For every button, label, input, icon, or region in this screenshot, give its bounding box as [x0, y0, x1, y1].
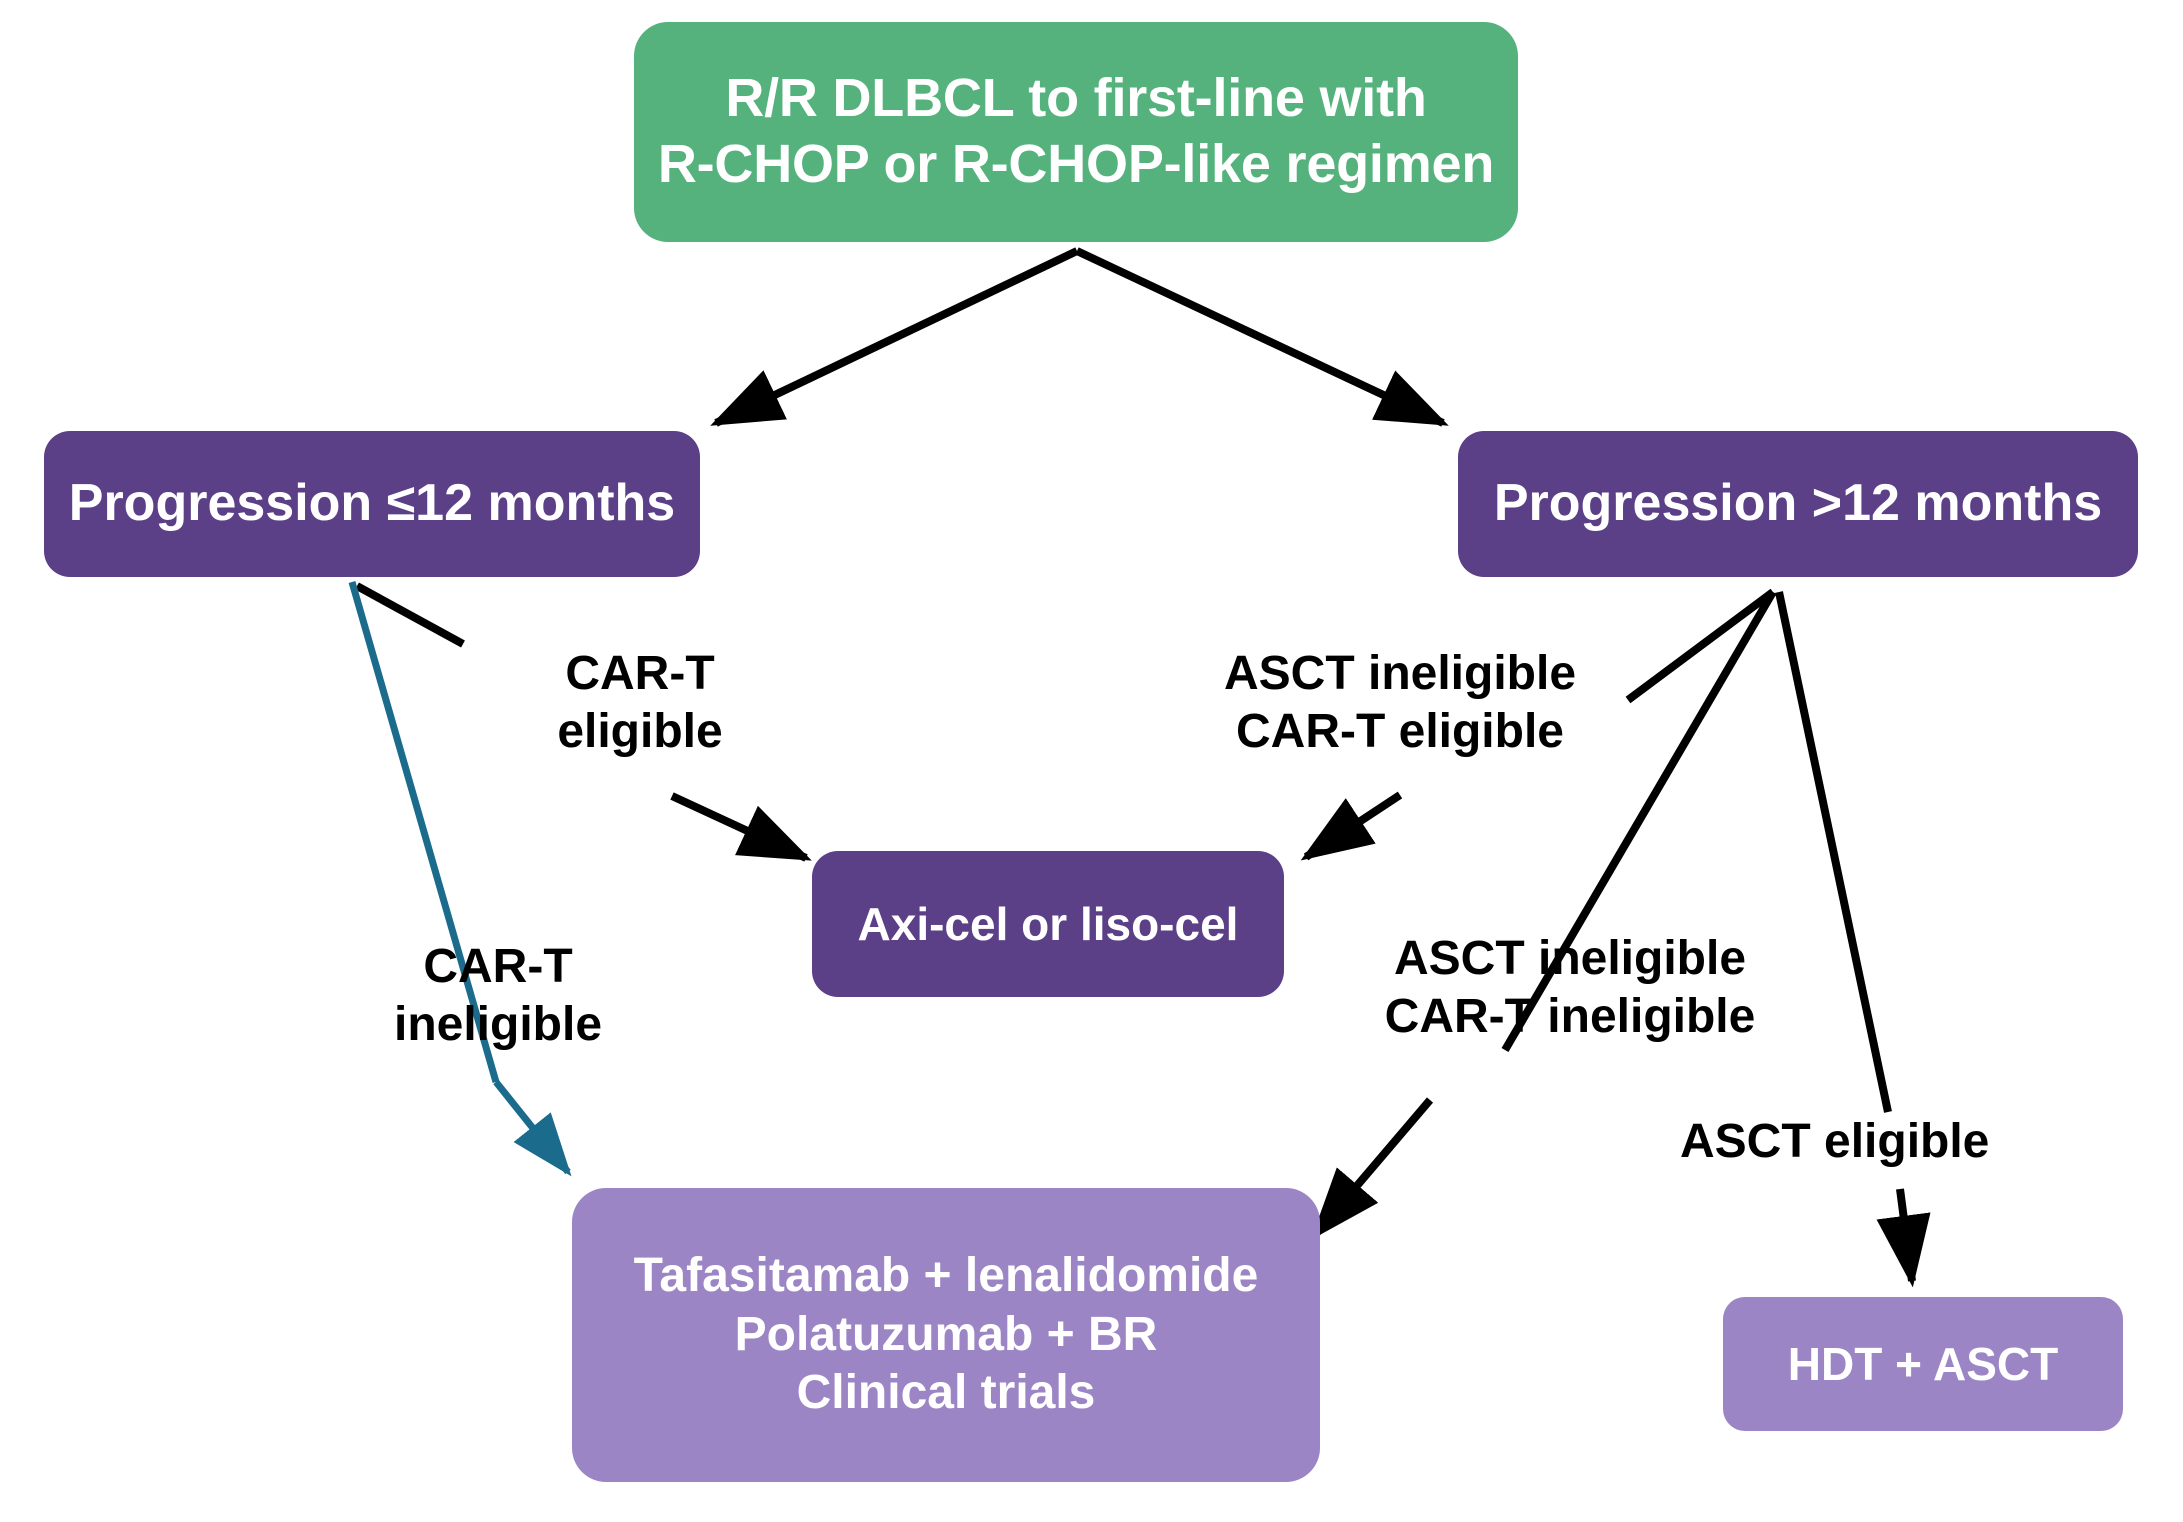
node-root-diagnosis[interactable]: R/R DLBCL to first-line with R-CHOP or R… [634, 22, 1518, 242]
edge-cart-eligible-to-cart-product [672, 796, 806, 858]
edge-asct-eligible-to-hdt-asct [1900, 1189, 1912, 1281]
edge-label-cart-ineligible-line-1: CAR-T [318, 938, 678, 996]
edge-cart-ineligible-to-salvage [496, 1082, 568, 1172]
edge-label-cart-eligible: CAR-T eligible [460, 645, 820, 760]
edge-asct-inel-cart-inel-to-salvage [1315, 1100, 1430, 1235]
edge-label-asct-ineligible-cart-ineligible-line-1: ASCT ineligible [1345, 930, 1795, 988]
edge-label-asct-ineligible-cart-ineligible-line-2: CAR-T ineligible [1345, 988, 1795, 1046]
edge-root-to-progression-gt-12 [1077, 251, 1443, 423]
node-progression-gt-12-label: Progression >12 months [1494, 472, 2102, 535]
node-root-text: R/R DLBCL to first-line with R-CHOP or R… [658, 66, 1494, 198]
edge-label-asct-ineligible-cart-eligible-line-1: ASCT ineligible [1185, 645, 1615, 703]
node-progression-le-12-months[interactable]: Progression ≤12 months [44, 431, 700, 577]
node-progression-gt-12-months[interactable]: Progression >12 months [1458, 431, 2138, 577]
node-axicel-or-lisocel-label: Axi-cel or liso-cel [858, 896, 1239, 952]
edge-label-asct-ineligible-cart-eligible: ASCT ineligible CAR-T eligible [1185, 645, 1615, 760]
edge-progression-gt-12-stub-asct-inel-cart-el [1628, 592, 1773, 700]
edge-label-asct-eligible-line-1: ASCT eligible [1680, 1113, 2080, 1171]
node-axicel-or-lisocel[interactable]: Axi-cel or liso-cel [812, 851, 1284, 997]
edge-asct-inel-cart-el-to-cart-product [1306, 795, 1400, 857]
node-root-line-1: R/R DLBCL to first-line with [658, 66, 1494, 132]
edge-label-cart-ineligible: CAR-T ineligible [318, 938, 678, 1053]
edge-progression-gt-12-stub-asct-eligible [1779, 592, 1888, 1112]
node-root-line-2: R-CHOP or R-CHOP-like regimen [658, 132, 1494, 198]
edge-label-asct-ineligible-cart-eligible-line-2: CAR-T eligible [1185, 703, 1615, 761]
edge-label-asct-eligible: ASCT eligible [1680, 1113, 2080, 1171]
node-salvage-text: Tafasitamab + lenalidomide Polatuzumab +… [634, 1247, 1259, 1423]
edge-label-cart-eligible-line-2: eligible [460, 703, 820, 761]
edge-label-asct-ineligible-cart-ineligible: ASCT ineligible CAR-T ineligible [1345, 930, 1795, 1045]
edge-root-to-progression-le-12 [716, 251, 1077, 423]
node-progression-le-12-label: Progression ≤12 months [69, 472, 675, 535]
edge-progression-le-12-stub-cart-eligible [357, 586, 463, 644]
node-salvage-line-3: Clinical trials [634, 1364, 1259, 1423]
flowchart-canvas: R/R DLBCL to first-line with R-CHOP or R… [0, 0, 2183, 1522]
edge-label-cart-eligible-line-1: CAR-T [460, 645, 820, 703]
node-hdt-plus-asct-label: HDT + ASCT [1788, 1336, 2058, 1392]
node-salvage-line-2: Polatuzumab + BR [634, 1306, 1259, 1365]
node-salvage-line-1: Tafasitamab + lenalidomide [634, 1247, 1259, 1306]
node-salvage-therapies[interactable]: Tafasitamab + lenalidomide Polatuzumab +… [572, 1188, 1320, 1482]
node-hdt-plus-asct[interactable]: HDT + ASCT [1723, 1297, 2123, 1431]
edge-label-cart-ineligible-line-2: ineligible [318, 996, 678, 1054]
